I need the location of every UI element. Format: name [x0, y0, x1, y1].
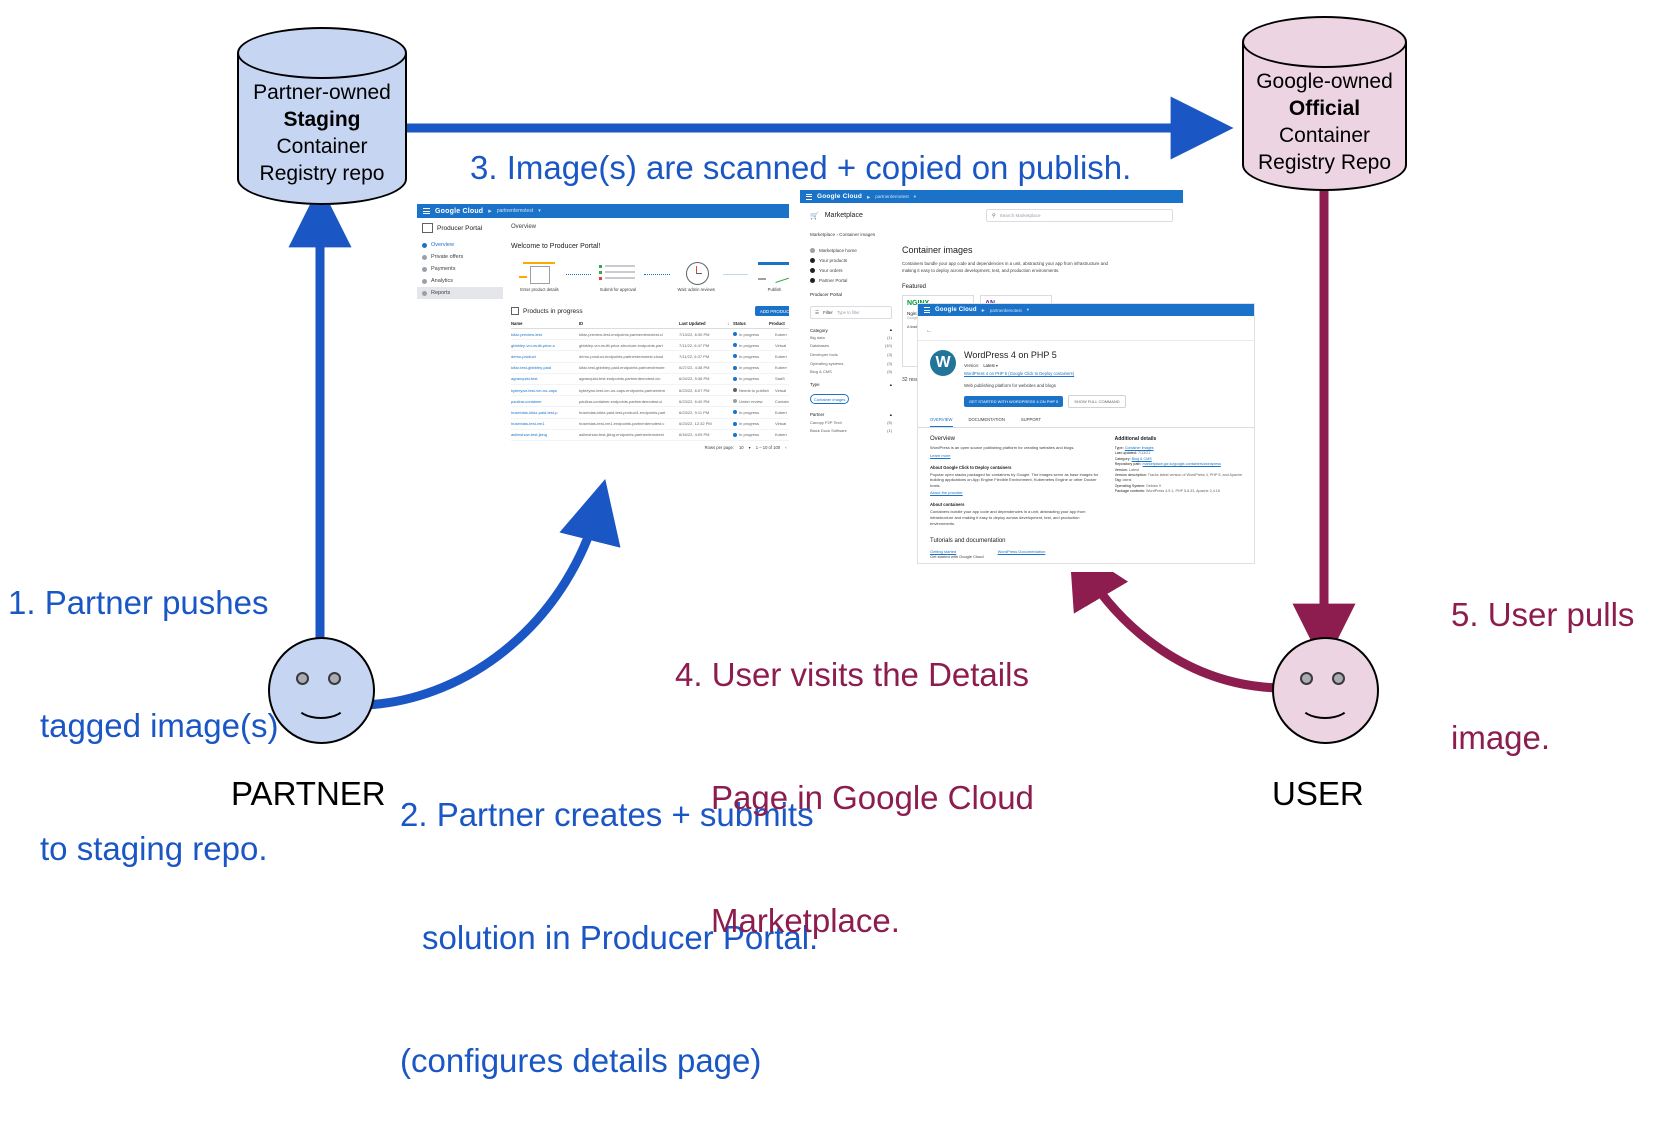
status-badge: In progress — [733, 376, 775, 381]
breadcrumb-container-images[interactable]: Container images — [839, 232, 875, 237]
marketplace-sidebar[interactable]: Marketplace home Your products Your orde… — [810, 245, 892, 435]
section-heading: About Google Click to Deploy containers — [930, 465, 1103, 470]
step-4-line-1: 4. User visits the Details — [675, 654, 1034, 695]
status-label: In progress — [739, 410, 759, 415]
table-pagination[interactable]: Rows per page: 10 ▾ 1 – 10 of 100 ‹ › — [511, 445, 789, 450]
home-icon — [422, 243, 427, 248]
user-eye-right — [1332, 672, 1345, 685]
section-about-containers: About containers Containers bundle your … — [930, 502, 1103, 526]
about-provider-link[interactable]: About the provider — [930, 490, 1103, 495]
cell-id: kyteeyan-test-vm-no-caps.endpoints.partn… — [579, 388, 679, 393]
products-section-title: Products in progress — [523, 308, 583, 315]
sidebar-item-payments[interactable]: Payments — [417, 263, 503, 275]
featured-label: Featured — [902, 284, 1173, 290]
status-badge: In progress — [733, 365, 775, 370]
status-label: In progress — [739, 365, 759, 370]
staging-line-1: Partner-owned — [237, 79, 407, 106]
section-about-gcd: About Google Click to Deploy containers … — [930, 465, 1103, 496]
detail-value[interactable]: Container images — [1125, 446, 1154, 450]
cell-updated: 6/23/22, 9:11 PM — [679, 410, 733, 415]
official-line-3: Container — [1242, 122, 1407, 149]
col-id: ID — [579, 321, 679, 326]
filter-icon: ☰ — [815, 310, 819, 316]
page-title: Container images — [902, 245, 1173, 255]
step-label: Enter product details — [517, 287, 562, 292]
project-name[interactable]: partnerdemotest — [875, 194, 908, 199]
cell-name: paulina-container — [511, 399, 579, 404]
breadcrumb: Overview — [511, 224, 789, 230]
staging-line-3: Container — [237, 133, 407, 160]
table-row[interactable]: kiktz-test-gbbbley-paidkiktz-test-gbbble… — [511, 363, 789, 374]
section-body: Containers bundle your app code and depe… — [930, 509, 1103, 526]
details-page-screenshot[interactable]: Google Cloud ▸ partnerdemotest ▾ ← W Wor… — [917, 303, 1255, 564]
cell-name: agranquist-test — [511, 376, 579, 381]
status-label: In progress — [739, 432, 759, 437]
status-icon — [733, 388, 737, 392]
facet-option-label: Canopy P2P Tech — [810, 420, 842, 425]
facet-option-label: Black Duck Software — [810, 428, 847, 433]
official-line-4: Registry Repo — [1242, 149, 1407, 176]
status-label: Under review — [739, 399, 763, 404]
tab-overview[interactable]: OVERVIEW — [930, 417, 953, 427]
cell-product: Kuberr — [775, 332, 789, 337]
cell-updated: 6/16/22, 4:09 PM — [679, 432, 733, 437]
detail-value[interactable]: marketplace.gcr.io/google-containers/wor… — [1143, 462, 1221, 466]
prev-page-icon[interactable]: ‹ — [785, 445, 786, 450]
facet-option-count: (10) — [885, 343, 892, 348]
status-icon — [733, 366, 737, 370]
facet-option-label: Container images — [814, 397, 845, 402]
detail-value: WordPress 4.9.1, PHP 5.6.33, Apache 2.4.… — [1146, 489, 1220, 493]
back-row[interactable]: ← — [918, 316, 1254, 341]
cell-id: kiktz-test-gbbbley-paid.endpoints.partne… — [579, 365, 679, 370]
status-icon — [733, 377, 737, 381]
sidebar-group-producer-portal: Producer Portal — [810, 292, 892, 297]
search-icon: ⚲ — [992, 213, 996, 219]
overview-heading: Overview — [930, 436, 1103, 442]
facet-option[interactable]: Operating systems(3) — [810, 359, 892, 368]
sidebar-item-analytics[interactable]: Analytics — [417, 275, 503, 287]
cell-product: Kuberr — [775, 410, 789, 415]
status-label: In progress — [739, 343, 759, 348]
cylinder-top — [237, 27, 407, 79]
table-header-row: Name ID Last Updated ↓ Status Product — [511, 321, 789, 329]
cell-product: Virtual — [775, 388, 789, 393]
sidebar-item-your-products[interactable]: Your products — [810, 255, 892, 265]
user-avatar — [1272, 637, 1379, 744]
detail-value[interactable]: Blog & CMS — [1132, 457, 1152, 461]
detail-key: Category: — [1115, 457, 1132, 461]
step-4-label: 4. User visits the Details Page in Googl… — [675, 572, 1034, 982]
facet-option-label: Databases — [810, 343, 829, 348]
sidebar-item-partner-portal[interactable]: Partner Portal — [810, 275, 892, 285]
cell-name: gbbbley-vm-multi-price-s — [511, 343, 579, 348]
arrow-step4 — [1080, 562, 1280, 688]
status-badge: Needs to publish — [733, 388, 775, 393]
detail-key: Repository path: — [1115, 462, 1143, 466]
facet-name: Type — [810, 382, 820, 387]
step-1-line-3: to staging repo. — [8, 828, 278, 869]
tab-documentation[interactable]: DOCUMENTATION — [969, 417, 1005, 427]
chevron-down-icon[interactable]: ▾ — [749, 445, 751, 450]
get-started-button[interactable]: GET STARTED WITH WORDPRESS 4 ON PHP 5 — [964, 396, 1063, 407]
version-label: Version: — [964, 363, 979, 368]
cell-name: kiktz-preview-test — [511, 332, 579, 337]
marketplace-app-title: Marketplace — [825, 212, 863, 219]
cell-id: aslimshow-test-jking.endpoints.partnerde… — [579, 432, 679, 437]
cell-updated: 7/11/22, 6:47 PM — [679, 343, 733, 348]
status-badge: In progress — [733, 421, 775, 426]
project-picker-icon[interactable]: ▸ — [488, 207, 492, 215]
onboarding-stepper: Enter product details Submit for approva… — [511, 262, 789, 292]
status-badge: Under review — [733, 399, 775, 404]
chevron-down-icon[interactable]: ▾ — [538, 208, 541, 214]
facet-option-count: (5) — [887, 420, 892, 425]
status-icon — [733, 399, 737, 403]
hamburger-menu-icon[interactable] — [924, 306, 930, 315]
table-row[interactable]: demo-productdemo-product-endpoints.partn… — [511, 351, 789, 362]
step-icon-wait-review — [674, 262, 719, 284]
official-line-2: Official — [1289, 97, 1360, 120]
table-row[interactable]: gbbbley-vm-multi-price-sgbbbley-vm-multi… — [511, 340, 789, 351]
facet-option-label: Blog & CMS — [810, 369, 832, 374]
step-4-line-3: Marketplace. — [675, 900, 1034, 941]
step-icon-publish — [752, 262, 789, 284]
cell-updated: 7/13/22, 6:30 PM — [679, 332, 733, 337]
filter-box[interactable]: ☰ Filter Type to filter — [810, 306, 892, 319]
sidebar-item-marketplace-home[interactable]: Marketplace home — [810, 245, 892, 255]
user-mouth — [1299, 689, 1351, 719]
cell-id: paulina-container.endpoints.partnerdemot… — [579, 399, 679, 404]
status-label: In progress — [739, 421, 759, 426]
learn-more-link[interactable]: Learn more — [930, 453, 1103, 458]
status-icon — [733, 332, 737, 336]
analytics-icon — [422, 279, 427, 284]
filter-label: Filter — [823, 310, 833, 315]
facet-option[interactable]: Big data(1) — [810, 333, 892, 342]
cell-name: kiktz-test-gbbbley-paid — [511, 365, 579, 370]
version-value[interactable]: Latest — [983, 363, 994, 368]
step-label: Publish — [752, 287, 789, 292]
cell-product: Virtual — [775, 421, 789, 426]
step-1-line-1: 1. Partner pushes — [8, 582, 278, 623]
product-link[interactable]: WordPress 4 on PHP 5 (Google Click to De… — [964, 371, 1242, 376]
status-icon — [733, 433, 737, 437]
cell-product: Kuberr — [775, 354, 789, 359]
section-heading: About containers — [930, 502, 1103, 507]
gcp-topbar[interactable]: Google Cloud ▸ partnerdemotest ▾ — [918, 304, 1254, 316]
detail-value: Tracks latest version of WordPress 4, PH… — [1148, 473, 1242, 477]
project-picker-icon[interactable]: ▸ — [982, 307, 985, 314]
cell-id: kiktz-preview-test-endpoints.partnerdemo… — [579, 332, 679, 337]
facet-option[interactable]: Black Duck Software(1) — [810, 427, 892, 436]
table-row[interactable]: huseinlas-test-vm1huseinlas-test-vm1.end… — [511, 419, 789, 430]
cell-id: gbbbley-vm-multi-price-structure.endpoin… — [579, 343, 679, 348]
detail-key: Type: — [1115, 446, 1125, 450]
wordpress-logo-icon: W — [930, 350, 956, 376]
sidebar-label: Payments — [431, 266, 455, 272]
partner-portal-icon — [810, 278, 815, 283]
producer-portal-sidebar[interactable]: Producer Portal Overview Private offers … — [417, 218, 503, 452]
official-line-1: Google-owned — [1242, 68, 1407, 95]
filter-input[interactable]: Type to filter — [837, 310, 860, 315]
cell-updated: 6/24/22, 5:36 PM — [679, 376, 733, 381]
details-tabs[interactable]: OVERVIEW DOCUMENTATION SUPPORT — [918, 408, 1254, 428]
facet-name: Partner — [810, 412, 824, 417]
cell-id: agranquist-test.endpoints.partnerdemotes… — [579, 376, 679, 381]
add-product-button[interactable]: ADD PRODUCT — [755, 306, 789, 316]
producer-portal-app-title: Producer Portal — [437, 225, 482, 232]
table-row[interactable]: aslimshow-test-jkingaslimshow-test-jking… — [511, 430, 789, 441]
table-row[interactable]: agranquist-testagranquist-test.endpoints… — [511, 374, 789, 385]
user-eye-left — [1300, 672, 1313, 685]
arrow-step2 — [365, 500, 600, 705]
gcp-logo-text: Google Cloud — [935, 307, 977, 313]
step-5-label: 5. User pulls image. — [1451, 512, 1634, 799]
sidebar-label: Overview — [431, 242, 454, 248]
rows-per-page-value[interactable]: 10 — [739, 445, 744, 450]
sidebar-label: Your products — [819, 258, 847, 263]
facet-header[interactable]: Type▴ — [810, 382, 892, 388]
status-icon — [733, 343, 737, 347]
step-1-line-2: tagged image(s) — [8, 705, 278, 746]
show-full-command-button[interactable]: SHOW FULL COMMAND — [1068, 395, 1125, 408]
status-icon — [733, 422, 737, 426]
step-5-line-1: 5. User pulls — [1451, 594, 1634, 635]
staging-line-4: Registry repo — [237, 160, 407, 187]
status-label: Needs to publish — [739, 388, 769, 393]
sidebar-label: Private offers — [431, 254, 463, 260]
back-arrow-icon[interactable]: ← — [926, 328, 932, 334]
sidebar-label: Reports — [431, 290, 450, 296]
products-table[interactable]: Name ID Last Updated ↓ Status Product ki… — [511, 321, 789, 441]
cell-product: SaaS — [775, 376, 789, 381]
home-icon — [810, 248, 815, 253]
products-section-icon — [511, 307, 519, 315]
detail-key: Operating System: — [1115, 484, 1147, 488]
reports-icon — [422, 291, 427, 296]
detail-key: Version description: — [1115, 473, 1148, 477]
facet-list[interactable]: Category▴Big data(1)Databases(10)Develop… — [810, 327, 892, 435]
chevron-down-icon[interactable]: ▾ — [996, 363, 998, 368]
detail-value: latest — [1123, 478, 1132, 482]
facet-option[interactable]: Developer tools(3) — [810, 350, 892, 359]
gcp-logo-text: Google Cloud — [817, 193, 862, 200]
gcp-topbar[interactable]: Google Cloud ▸ partnerdemotest ▾ — [417, 204, 789, 218]
payments-icon — [422, 267, 427, 272]
product-tagline: Web publishing platform for websites and… — [964, 383, 1242, 388]
hamburger-menu-icon[interactable] — [423, 207, 430, 216]
step-label: Submit for approval — [595, 287, 640, 292]
overview-body: WordPress is an open source publishing p… — [930, 445, 1103, 451]
step-3-line-1: 3. Image(s) are scanned + copied on publ… — [470, 148, 1131, 188]
facet-name: Category — [810, 328, 828, 333]
tutorials-heading: Tutorials and documentation — [930, 538, 1103, 544]
cell-product: Kuberr — [775, 432, 789, 437]
sidebar-label: Your orders — [819, 268, 843, 273]
sidebar-item-private-offers[interactable]: Private offers — [417, 251, 503, 263]
col-status: Status — [733, 321, 769, 326]
facet-option-label: Developer tools — [810, 352, 838, 357]
table-row[interactable]: huseinlas-kiktz-paid-test-phuseinlas-kik… — [511, 407, 789, 418]
cell-name: demo-product — [511, 354, 579, 359]
sidebar-label: Analytics — [431, 278, 453, 284]
tutorial-link-wordpress-docs[interactable]: WordPress Documentation — [998, 549, 1046, 554]
detail-key: Version: — [1115, 468, 1129, 472]
cylinder-top — [1242, 16, 1407, 68]
step-2-line-3: (configures details page) — [400, 1040, 818, 1081]
cell-updated: 6/27/22, 4:38 PM — [679, 365, 733, 370]
detail-key: Last updated: — [1115, 451, 1138, 455]
facet-option[interactable]: Canopy P2P Tech(5) — [810, 418, 892, 427]
table-row[interactable]: kiktz-preview-testkiktz-preview-test-end… — [511, 329, 789, 340]
sidebar-label: Partner Portal — [819, 278, 847, 283]
cell-id: huseinlas-test-vm1.endpoints.partnerdemo… — [579, 421, 679, 426]
step-label: Wait: admin reviews — [674, 287, 719, 292]
product-title: WordPress 4 on PHP 5 — [964, 350, 1242, 360]
chevron-up-icon[interactable]: ▴ — [890, 327, 892, 333]
detail-key: Tag: — [1115, 478, 1123, 482]
official-repo-cylinder: Google-owned Official Container Registry… — [1242, 16, 1407, 191]
project-name[interactable]: partnerdemotest — [497, 208, 533, 214]
offers-icon — [422, 255, 427, 260]
cell-id: huseinlas-kiktz-paid-test-product1.endpo… — [579, 410, 679, 415]
status-badge: In progress — [733, 332, 775, 337]
staging-line-2: Staging — [284, 108, 361, 131]
status-badge: In progress — [733, 410, 775, 415]
col-last-updated[interactable]: Last Updated — [679, 321, 727, 326]
sidebar-item-reports[interactable]: Reports — [417, 287, 503, 299]
step-4-line-2: Page in Google Cloud — [675, 777, 1034, 818]
official-repo-text: Google-owned Official Container Registry… — [1242, 68, 1407, 176]
pagination-range: 1 – 10 of 100 — [756, 445, 780, 450]
sidebar-item-your-orders[interactable]: Your orders — [810, 265, 892, 275]
facet-option-count: (3) — [887, 352, 892, 357]
welcome-heading: Welcome to Producer Portal! — [511, 243, 789, 250]
table-row[interactable]: paulina-containerpaulina-container.endpo… — [511, 396, 789, 407]
detail-row: Package contents: WordPress 4.9.1, PHP 5… — [1115, 489, 1242, 494]
search-input[interactable]: Search Marketplace — [1000, 213, 1041, 218]
detail-value: Debian 9 — [1146, 484, 1161, 488]
cell-name: aslimshow-test-jking — [511, 432, 579, 437]
cell-name: kyteeyan-test-vm-no-caps — [511, 388, 579, 393]
partner-eye-right — [328, 672, 341, 685]
step-1-label: 1. Partner pushes tagged image(s) to sta… — [8, 500, 278, 910]
sidebar-label: Marketplace home — [819, 248, 857, 253]
chevron-up-icon[interactable]: ▴ — [890, 382, 892, 388]
project-picker-icon[interactable]: ▸ — [867, 193, 870, 201]
detail-value: 7/13/21 — [1138, 451, 1150, 455]
gcp-topbar[interactable]: Google Cloud ▸ partnerdemotest ▾ — [800, 190, 1183, 203]
sidebar-item-overview[interactable]: Overview — [417, 239, 503, 251]
status-badge: In progress — [733, 343, 775, 348]
facet-option-count: (1) — [887, 428, 892, 433]
orders-icon — [810, 268, 815, 273]
producer-portal-app-icon — [422, 223, 433, 233]
products-icon — [810, 258, 815, 263]
cell-product: Virtual — [775, 343, 789, 348]
table-body[interactable]: kiktz-preview-testkiktz-preview-test-end… — [511, 329, 789, 441]
status-label: In progress — [739, 354, 759, 359]
status-icon — [733, 354, 737, 358]
producer-portal-main: Overview Welcome to Producer Portal! Ent… — [503, 218, 789, 452]
table-row[interactable]: kyteeyan-test-vm-no-capskyteeyan-test-vm… — [511, 385, 789, 396]
facet-option-count: (1) — [887, 335, 892, 340]
page-body: Containers bundle your app code and depe… — [902, 261, 1117, 274]
marketplace-cart-icon: 🛒 — [810, 212, 819, 220]
facet-option-count: (5) — [887, 369, 892, 374]
gcp-logo-text: Google Cloud — [435, 208, 483, 215]
detail-key: Package contents: — [1115, 489, 1146, 493]
status-icon — [733, 410, 737, 414]
cell-product: Kuberr — [775, 365, 789, 370]
chevron-down-icon[interactable]: ▾ — [914, 194, 916, 200]
breadcrumb[interactable]: Marketplace › Container images — [800, 228, 1183, 241]
staging-repo-cylinder: Partner-owned Staging Container Registry… — [237, 27, 407, 205]
status-label: In progress — [739, 332, 759, 337]
step-icon-submit — [595, 262, 640, 284]
cell-name: huseinlas-test-vm1 — [511, 421, 579, 426]
staging-repo-text: Partner-owned Staging Container Registry… — [237, 79, 407, 187]
user-label: USER — [1272, 775, 1364, 813]
cell-product: Contain — [775, 399, 789, 404]
rows-per-page-label: Rows per page: — [705, 445, 734, 450]
col-name: Name — [511, 321, 579, 326]
step-icon-enter-details — [517, 262, 562, 284]
cell-updated: 6/23/22, 12:32 PM — [679, 421, 733, 426]
additional-details-heading: Additional details — [1115, 436, 1242, 442]
cell-updated: 6/23/22, 6:40 PM — [679, 399, 733, 404]
tab-support[interactable]: SUPPORT — [1021, 417, 1041, 427]
cell-id: demo-product-endpoints.partnerdemotest.c… — [579, 354, 679, 359]
chevron-down-icon[interactable]: ▾ — [1027, 307, 1029, 313]
detail-row: Version description: Tracks latest versi… — [1115, 473, 1242, 478]
search-marketplace-box[interactable]: ⚲ Search Marketplace — [986, 209, 1173, 222]
facet-option[interactable]: Blog & CMS(5) — [810, 367, 892, 376]
facet-option[interactable]: Databases(10) — [810, 342, 892, 351]
chevron-up-icon[interactable]: ▴ — [890, 412, 892, 418]
facet-option[interactable]: Container images — [810, 394, 849, 404]
additional-details-list: Type: Container imagesLast updated: 7/13… — [1115, 446, 1242, 495]
breadcrumb-marketplace[interactable]: Marketplace — [810, 232, 835, 237]
status-badge: In progress — [733, 354, 775, 359]
tutorial-desc: Get started with Google Cloud — [930, 554, 984, 559]
step-5-line-2: image. — [1451, 717, 1634, 758]
facet-option-label: Operating systems — [810, 361, 843, 366]
cell-updated: 7/11/22, 6:37 PM — [679, 354, 733, 359]
hamburger-menu-icon[interactable] — [806, 192, 812, 201]
producer-portal-screenshot[interactable]: Google Cloud ▸ partnerdemotest ▾ Produce… — [417, 204, 789, 452]
partner-eye-left — [296, 672, 309, 685]
col-product: Product — [769, 321, 789, 326]
status-badge: In progress — [733, 432, 775, 437]
partner-avatar — [268, 637, 375, 744]
status-label: In progress — [739, 376, 759, 381]
project-name[interactable]: partnerdemotest — [990, 308, 1022, 313]
cell-updated: 6/23/22, 6:07 PM — [679, 388, 733, 393]
section-body: Popular open stacks packaged for contain… — [930, 472, 1103, 489]
cell-name: huseinlas-kiktz-paid-test-p — [511, 410, 579, 415]
facet-option-label: Big data — [810, 335, 825, 340]
facet-option-count: (3) — [887, 361, 892, 366]
detail-value: Latest — [1129, 468, 1139, 472]
partner-mouth — [295, 689, 347, 719]
